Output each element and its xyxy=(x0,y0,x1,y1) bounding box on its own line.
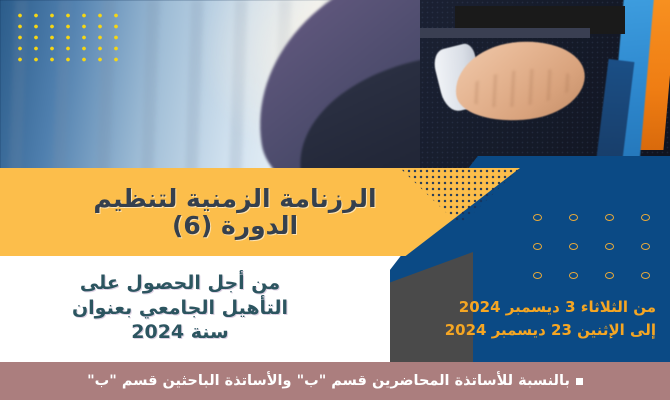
poster-subtitle: من أجل الحصول على التأهيل الجامعي بعنوان… xyxy=(0,258,360,358)
date-range: من الثلاثاء 3 ديسمبر 2024 إلى الإثنين 23… xyxy=(380,290,662,348)
end-date-line: إلى الإثنين 23 ديسمبر 2024 xyxy=(445,319,656,342)
yellow-dot-grid-decoration xyxy=(10,8,128,68)
ring-dot xyxy=(533,214,542,221)
poster-root: الرزنامة الزمنية لتنظيم الدورة (6) من ال… xyxy=(0,0,670,400)
ring-dot xyxy=(641,214,650,221)
start-date-line: من الثلاثاء 3 ديسمبر 2024 xyxy=(459,296,656,319)
ring-dot xyxy=(569,214,578,221)
subtitle-line-1: من أجل الحصول على xyxy=(80,271,280,296)
ring-dot xyxy=(533,243,542,250)
ring-dot xyxy=(569,272,578,279)
footer-band: بالنسبة للأساتذة المحاضرين قسم "ب" والأس… xyxy=(0,362,670,400)
ring-dot xyxy=(605,243,614,250)
poster-title: الرزنامة الزمنية لتنظيم الدورة (6) xyxy=(0,170,470,254)
ring-dot xyxy=(605,214,614,221)
square-bullet-icon xyxy=(576,378,583,385)
subtitle-line-3: سنة 2024 xyxy=(131,320,228,345)
ring-dot xyxy=(605,272,614,279)
subtitle-line-2: التأهيل الجامعي بعنوان xyxy=(72,296,288,321)
ring-dot xyxy=(641,272,650,279)
title-line-1: الرزنامة الزمنية لتنظيم xyxy=(93,185,376,212)
censor-bar-secondary xyxy=(420,28,590,38)
title-line-2: الدورة (6) xyxy=(172,212,298,239)
header-photo-band xyxy=(0,0,670,172)
gold-ring-grid-decoration xyxy=(533,214,649,286)
ring-dot xyxy=(533,272,542,279)
footer-note-text: بالنسبة للأساتذة المحاضرين قسم "ب" والأس… xyxy=(87,373,570,389)
ring-dot xyxy=(641,243,650,250)
ring-dot xyxy=(569,243,578,250)
